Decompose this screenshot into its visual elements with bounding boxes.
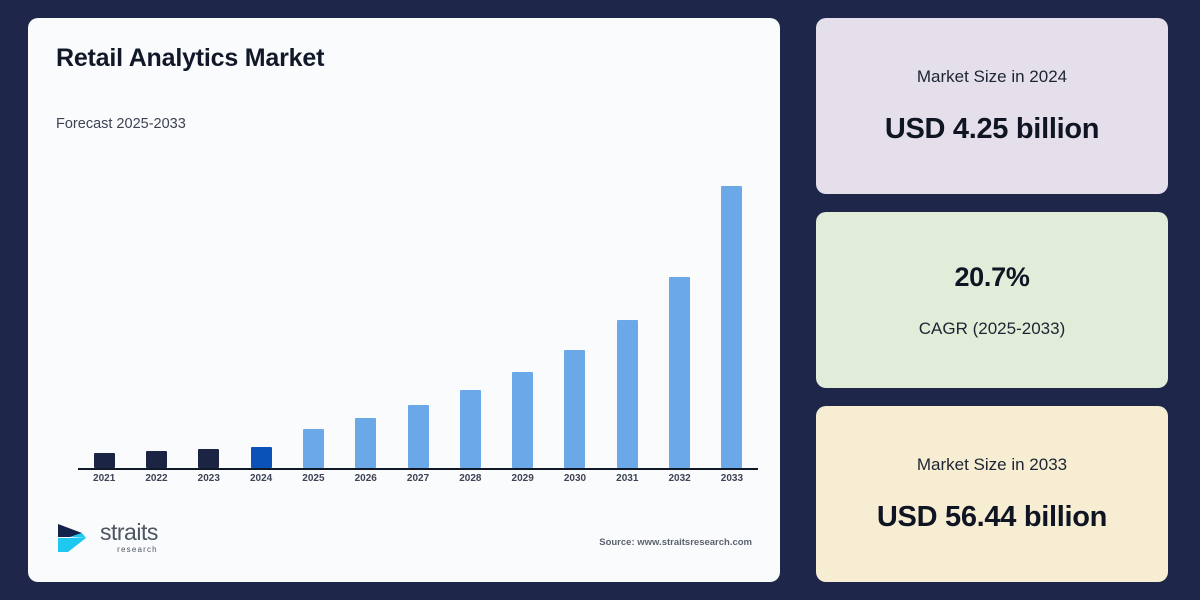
x-label-2025: 2025: [287, 473, 339, 484]
arrow-chevron-logo-icon: [56, 522, 92, 554]
kpi-card-market-size-2024: Market Size in 2024USD 4.25 billion: [816, 18, 1168, 194]
bar-slot: [340, 168, 392, 468]
x-label-2027: 2027: [392, 473, 444, 484]
bar-2033: [721, 186, 742, 468]
bar-slot: [235, 168, 287, 468]
x-axis-line: [78, 468, 758, 470]
x-label-2029: 2029: [497, 473, 549, 484]
x-label-2021: 2021: [78, 473, 130, 484]
bar-2026: [355, 418, 376, 468]
x-label-2022: 2022: [130, 473, 182, 484]
bar-slot: [549, 168, 601, 468]
bar-2022: [146, 451, 167, 468]
bar-2030: [564, 350, 585, 468]
page-title: Retail Analytics Market: [56, 44, 752, 73]
straits-research-logo: straits research: [56, 521, 158, 554]
bar-slot: [183, 168, 235, 468]
bar-2031: [617, 320, 638, 468]
kpi-label: Market Size in 2033: [917, 455, 1067, 475]
bar-slot: [78, 168, 130, 468]
x-label-2032: 2032: [653, 473, 705, 484]
logo-wordmark: straits: [100, 521, 158, 544]
x-label-2031: 2031: [601, 473, 653, 484]
kpi-label: CAGR (2025-2033): [919, 319, 1065, 339]
x-label-2030: 2030: [549, 473, 601, 484]
kpi-card-market-size-2033: Market Size in 2033USD 56.44 billion: [816, 406, 1168, 582]
bar-series: [78, 168, 758, 468]
chart-subtitle: Forecast 2025-2033: [56, 116, 752, 132]
bar-2027: [408, 405, 429, 468]
source-attribution: Source: www.straitsresearch.com: [599, 537, 752, 554]
bar-2024: [251, 447, 272, 468]
chart-panel: Retail Analytics Market Forecast 2025-20…: [28, 18, 780, 582]
kpi-value: 20.7%: [954, 262, 1029, 293]
infographic-root: Retail Analytics Market Forecast 2025-20…: [0, 0, 1200, 600]
bar-2028: [460, 390, 481, 468]
bar-2029: [512, 372, 533, 468]
kpi-card-list: Market Size in 2024USD 4.25 billion20.7%…: [816, 18, 1168, 582]
kpi-card-cagr: 20.7%CAGR (2025-2033): [816, 212, 1168, 388]
x-label-2023: 2023: [183, 473, 235, 484]
x-label-2024: 2024: [235, 473, 287, 484]
x-axis-labels: 2021202220232024202520262027202820292030…: [78, 473, 758, 484]
bar-2032: [669, 277, 690, 468]
x-label-2026: 2026: [340, 473, 392, 484]
x-label-2033: 2033: [706, 473, 758, 484]
bar-slot: [653, 168, 705, 468]
bar-slot: [130, 168, 182, 468]
bar-slot: [444, 168, 496, 468]
bar-2021: [94, 453, 115, 468]
kpi-value: USD 4.25 billion: [885, 113, 1099, 146]
kpi-label: Market Size in 2024: [917, 67, 1067, 87]
bar-slot: [601, 168, 653, 468]
bar-slot: [392, 168, 444, 468]
bar-slot: [287, 168, 339, 468]
logo-tagline: research: [117, 546, 158, 554]
bar-2023: [198, 449, 219, 468]
plot-area: [78, 168, 758, 468]
logo-text: straits research: [100, 521, 158, 554]
panel-footer: straits research Source: www.straitsrese…: [56, 521, 752, 554]
x-label-2028: 2028: [444, 473, 496, 484]
bar-slot: [706, 168, 758, 468]
bar-2025: [303, 429, 324, 468]
kpi-value: USD 56.44 billion: [877, 501, 1107, 534]
bar-slot: [497, 168, 549, 468]
